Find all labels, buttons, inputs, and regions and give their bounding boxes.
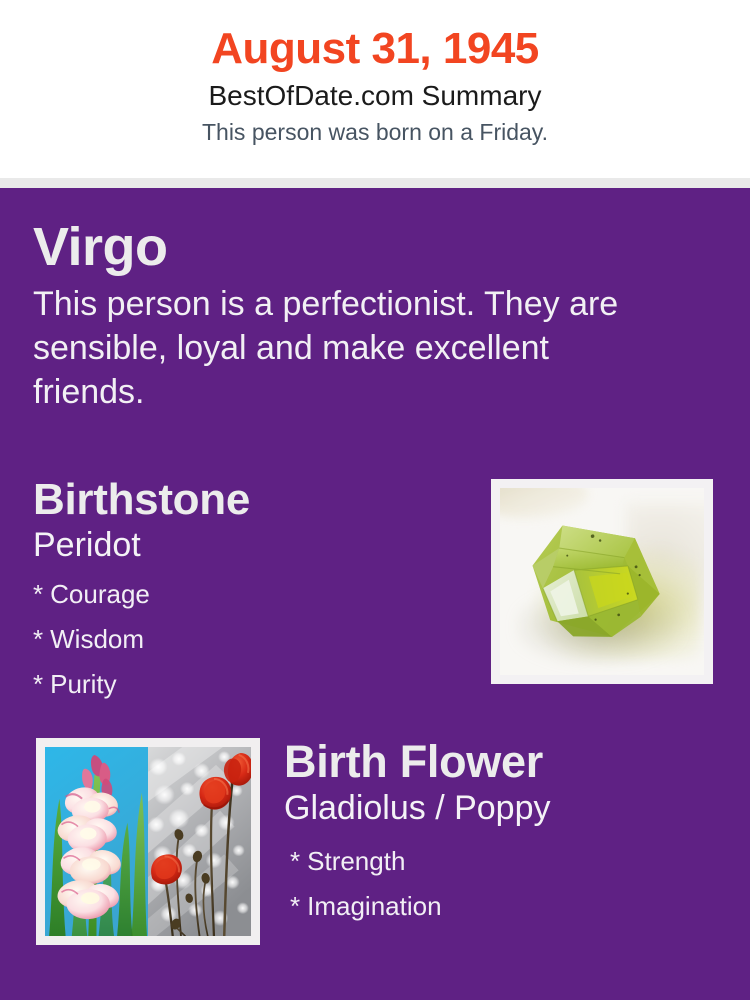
peridot-gemstone-photo (491, 479, 713, 684)
gemstone-image-inner (500, 488, 704, 675)
poppy-illustration (148, 747, 251, 936)
site-name: BestOfDate.com Summary (0, 78, 750, 114)
birthstone-name: Peridot (33, 524, 463, 566)
card-header: August 31, 1945 BestOfDate.com Summary T… (0, 0, 750, 178)
header-divider (0, 178, 750, 188)
birthstone-trait-label: Wisdom (50, 624, 144, 654)
birth-flower-trait-list: *Strength *Imagination (284, 839, 734, 929)
bullet-star-icon: * (290, 846, 300, 876)
zodiac-section: Virgo This person is a perfectionist. Th… (33, 217, 673, 414)
list-item: *Imagination (290, 884, 734, 929)
gladiolus-illustration (45, 747, 148, 936)
birthstone-section: Birthstone Peridot *Courage *Wisdom *Pur… (33, 474, 463, 707)
zodiac-description: This person is a perfectionist. They are… (33, 282, 633, 414)
zodiac-sign-name: Virgo (33, 217, 673, 277)
flower-image-inner (45, 747, 251, 936)
page-title: August 31, 1945 (0, 22, 750, 76)
poppy-half (148, 747, 251, 936)
bullet-star-icon: * (290, 891, 300, 921)
gem-background-highlight (500, 488, 588, 518)
birth-day-note: This person was born on a Friday. (0, 116, 750, 148)
birthstone-trait-label: Courage (50, 579, 150, 609)
birth-flower-trait-label: Strength (307, 846, 405, 876)
birthstone-heading: Birthstone (33, 474, 463, 526)
list-item: *Purity (33, 662, 463, 707)
list-item: *Wisdom (33, 617, 463, 662)
birth-flower-section: Birth Flower Gladiolus / Poppy *Strength… (284, 735, 734, 929)
gladiolus-and-poppy-photo (36, 738, 260, 945)
bullet-star-icon: * (33, 579, 43, 609)
birth-flower-heading: Birth Flower (284, 735, 734, 789)
gladiolus-half (45, 747, 148, 936)
bullet-star-icon: * (33, 669, 43, 699)
birth-flower-trait-label: Imagination (307, 891, 441, 921)
summary-card: August 31, 1945 BestOfDate.com Summary T… (0, 0, 750, 1000)
list-item: *Courage (33, 572, 463, 617)
birthstone-trait-list: *Courage *Wisdom *Purity (33, 572, 463, 707)
peridot-crystal-shape (521, 504, 674, 654)
list-item: *Strength (290, 839, 734, 884)
bullet-star-icon: * (33, 624, 43, 654)
birthstone-trait-label: Purity (50, 669, 116, 699)
birth-flower-name: Gladiolus / Poppy (284, 787, 734, 829)
